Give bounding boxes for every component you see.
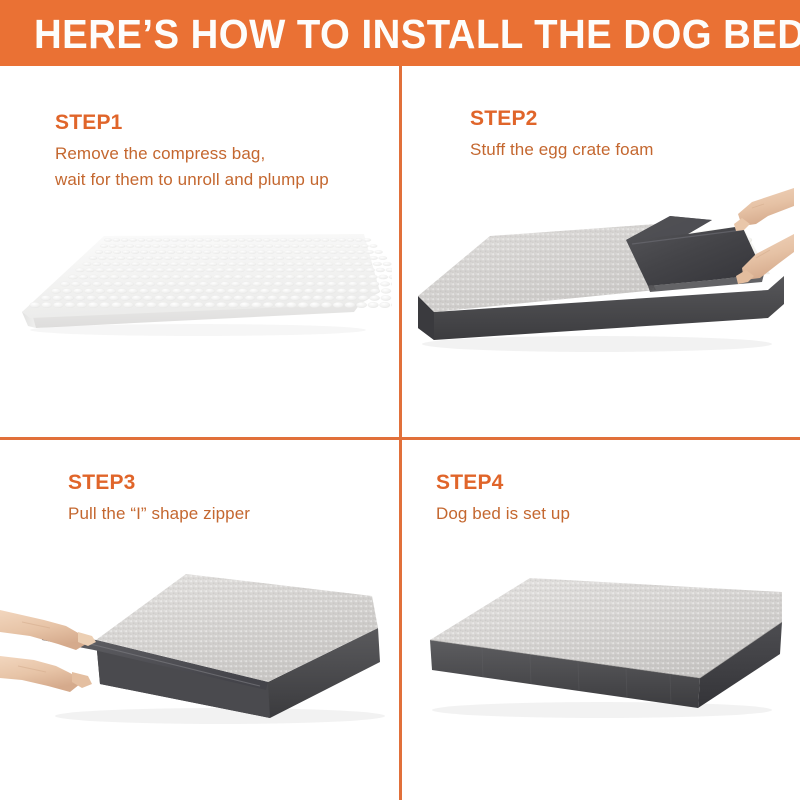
step-3-text-block: STEP3 Pull the “I” shape zipper — [68, 470, 250, 527]
finished-dog-bed-illustration — [412, 552, 792, 742]
header-banner: HERE’S HOW TO INSTALL THE DOG BED — [0, 0, 800, 66]
step-panel-3: STEP3 Pull the “I” shape zipper — [0, 440, 399, 800]
step-4-heading: STEP4 — [436, 470, 570, 496]
step-1-description-line-2: wait for them to unroll and plump up — [55, 167, 329, 193]
upper-hand — [738, 188, 794, 226]
infographic-page: HERE’S HOW TO INSTALL THE DOG BED STEP1 … — [0, 0, 800, 800]
foam-shadow — [30, 324, 366, 336]
lower-hand — [0, 656, 80, 692]
upper-hand — [0, 610, 86, 650]
hands-group — [0, 610, 96, 692]
step-2-description-line-1: Stuff the egg crate foam — [470, 137, 654, 163]
step-4-text-block: STEP4 Dog bed is set up — [436, 470, 570, 527]
dog-bed-with-open-cover-and-hands-illustration — [412, 178, 794, 368]
step-2-text-block: STEP2 Stuff the egg crate foam — [470, 106, 654, 163]
step-1-heading: STEP1 — [55, 110, 329, 136]
step-3-heading: STEP3 — [68, 470, 250, 496]
egg-crate-foam-slab-illustration — [8, 200, 392, 350]
step-panel-2: STEP2 Stuff the egg crate foam — [402, 66, 800, 437]
step-1-text-block: STEP1 Remove the compress bag, wait for … — [55, 110, 329, 193]
hands-pulling-zipper-on-dog-bed-illustration — [0, 540, 399, 740]
step-2-heading: STEP2 — [470, 106, 654, 132]
step-3-description-line-1: Pull the “I” shape zipper — [68, 501, 250, 527]
step-1-description-line-1: Remove the compress bag, — [55, 141, 329, 167]
bed-shadow — [422, 336, 772, 352]
step-panel-1: STEP1 Remove the compress bag, wait for … — [0, 66, 399, 437]
step-4-description-line-1: Dog bed is set up — [436, 501, 570, 527]
bed-shadow — [55, 708, 385, 724]
bed-shadow — [432, 702, 772, 718]
step-panel-4: STEP4 Dog bed is set up — [402, 440, 800, 800]
page-title: HERE’S HOW TO INSTALL THE DOG BED — [34, 0, 800, 66]
